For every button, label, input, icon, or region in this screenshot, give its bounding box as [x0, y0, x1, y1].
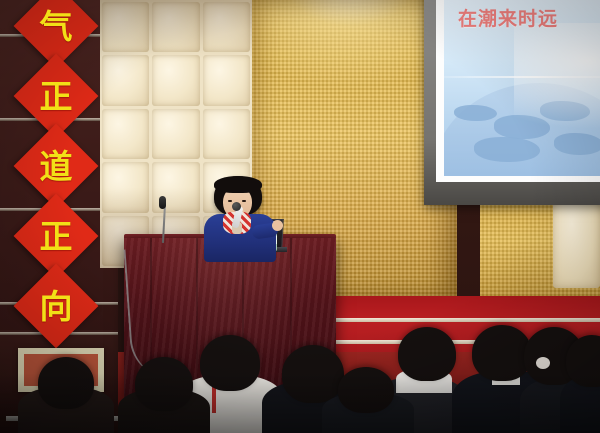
vertical-diamond-banner: 气 正 道 正 向	[14, 0, 100, 334]
wall-pad	[203, 109, 250, 159]
banner-character: 向	[40, 290, 73, 323]
landmass	[454, 105, 497, 121]
audience-head	[135, 357, 193, 411]
light-glow	[514, 23, 600, 148]
banner-character: 正	[40, 80, 73, 113]
wall-pad	[102, 55, 149, 105]
wall-pad	[553, 196, 600, 288]
wall-pad	[152, 2, 199, 52]
banner-character: 气	[40, 10, 73, 43]
gooseneck-microphone-icon	[159, 196, 166, 209]
slide-title: 在潮来时远	[458, 4, 600, 31]
wall-pad	[152, 109, 199, 159]
wall-pad	[203, 2, 250, 52]
audience-head	[472, 325, 532, 381]
microphone-head-icon	[232, 202, 241, 211]
presenter-hand	[272, 220, 283, 231]
banner-character: 道	[40, 150, 73, 183]
drape-fold	[196, 238, 198, 398]
eye	[242, 200, 246, 202]
wall-pad	[102, 162, 149, 212]
audience-head	[338, 367, 394, 413]
wall-pad	[203, 55, 250, 105]
screen-surface: 在潮来时远	[436, 0, 600, 182]
audience-head	[282, 345, 344, 403]
hair-clip	[536, 357, 550, 369]
wall-pad	[152, 55, 199, 105]
presentation-slide: 在潮来时远	[444, 0, 600, 176]
banner-diamond: 向	[14, 264, 98, 348]
audience-head	[38, 357, 94, 409]
audience-head	[398, 327, 456, 381]
audience-head	[200, 335, 260, 391]
eye	[228, 200, 232, 202]
projection-screen: 在潮来时远	[424, 0, 600, 205]
photo-scene: 气 正 道 正 向	[0, 0, 600, 433]
presenter	[196, 176, 288, 256]
banner-character: 正	[40, 220, 73, 253]
wall-pad	[102, 109, 149, 159]
wall-pad	[102, 2, 149, 52]
presenter-fringe	[214, 176, 262, 193]
